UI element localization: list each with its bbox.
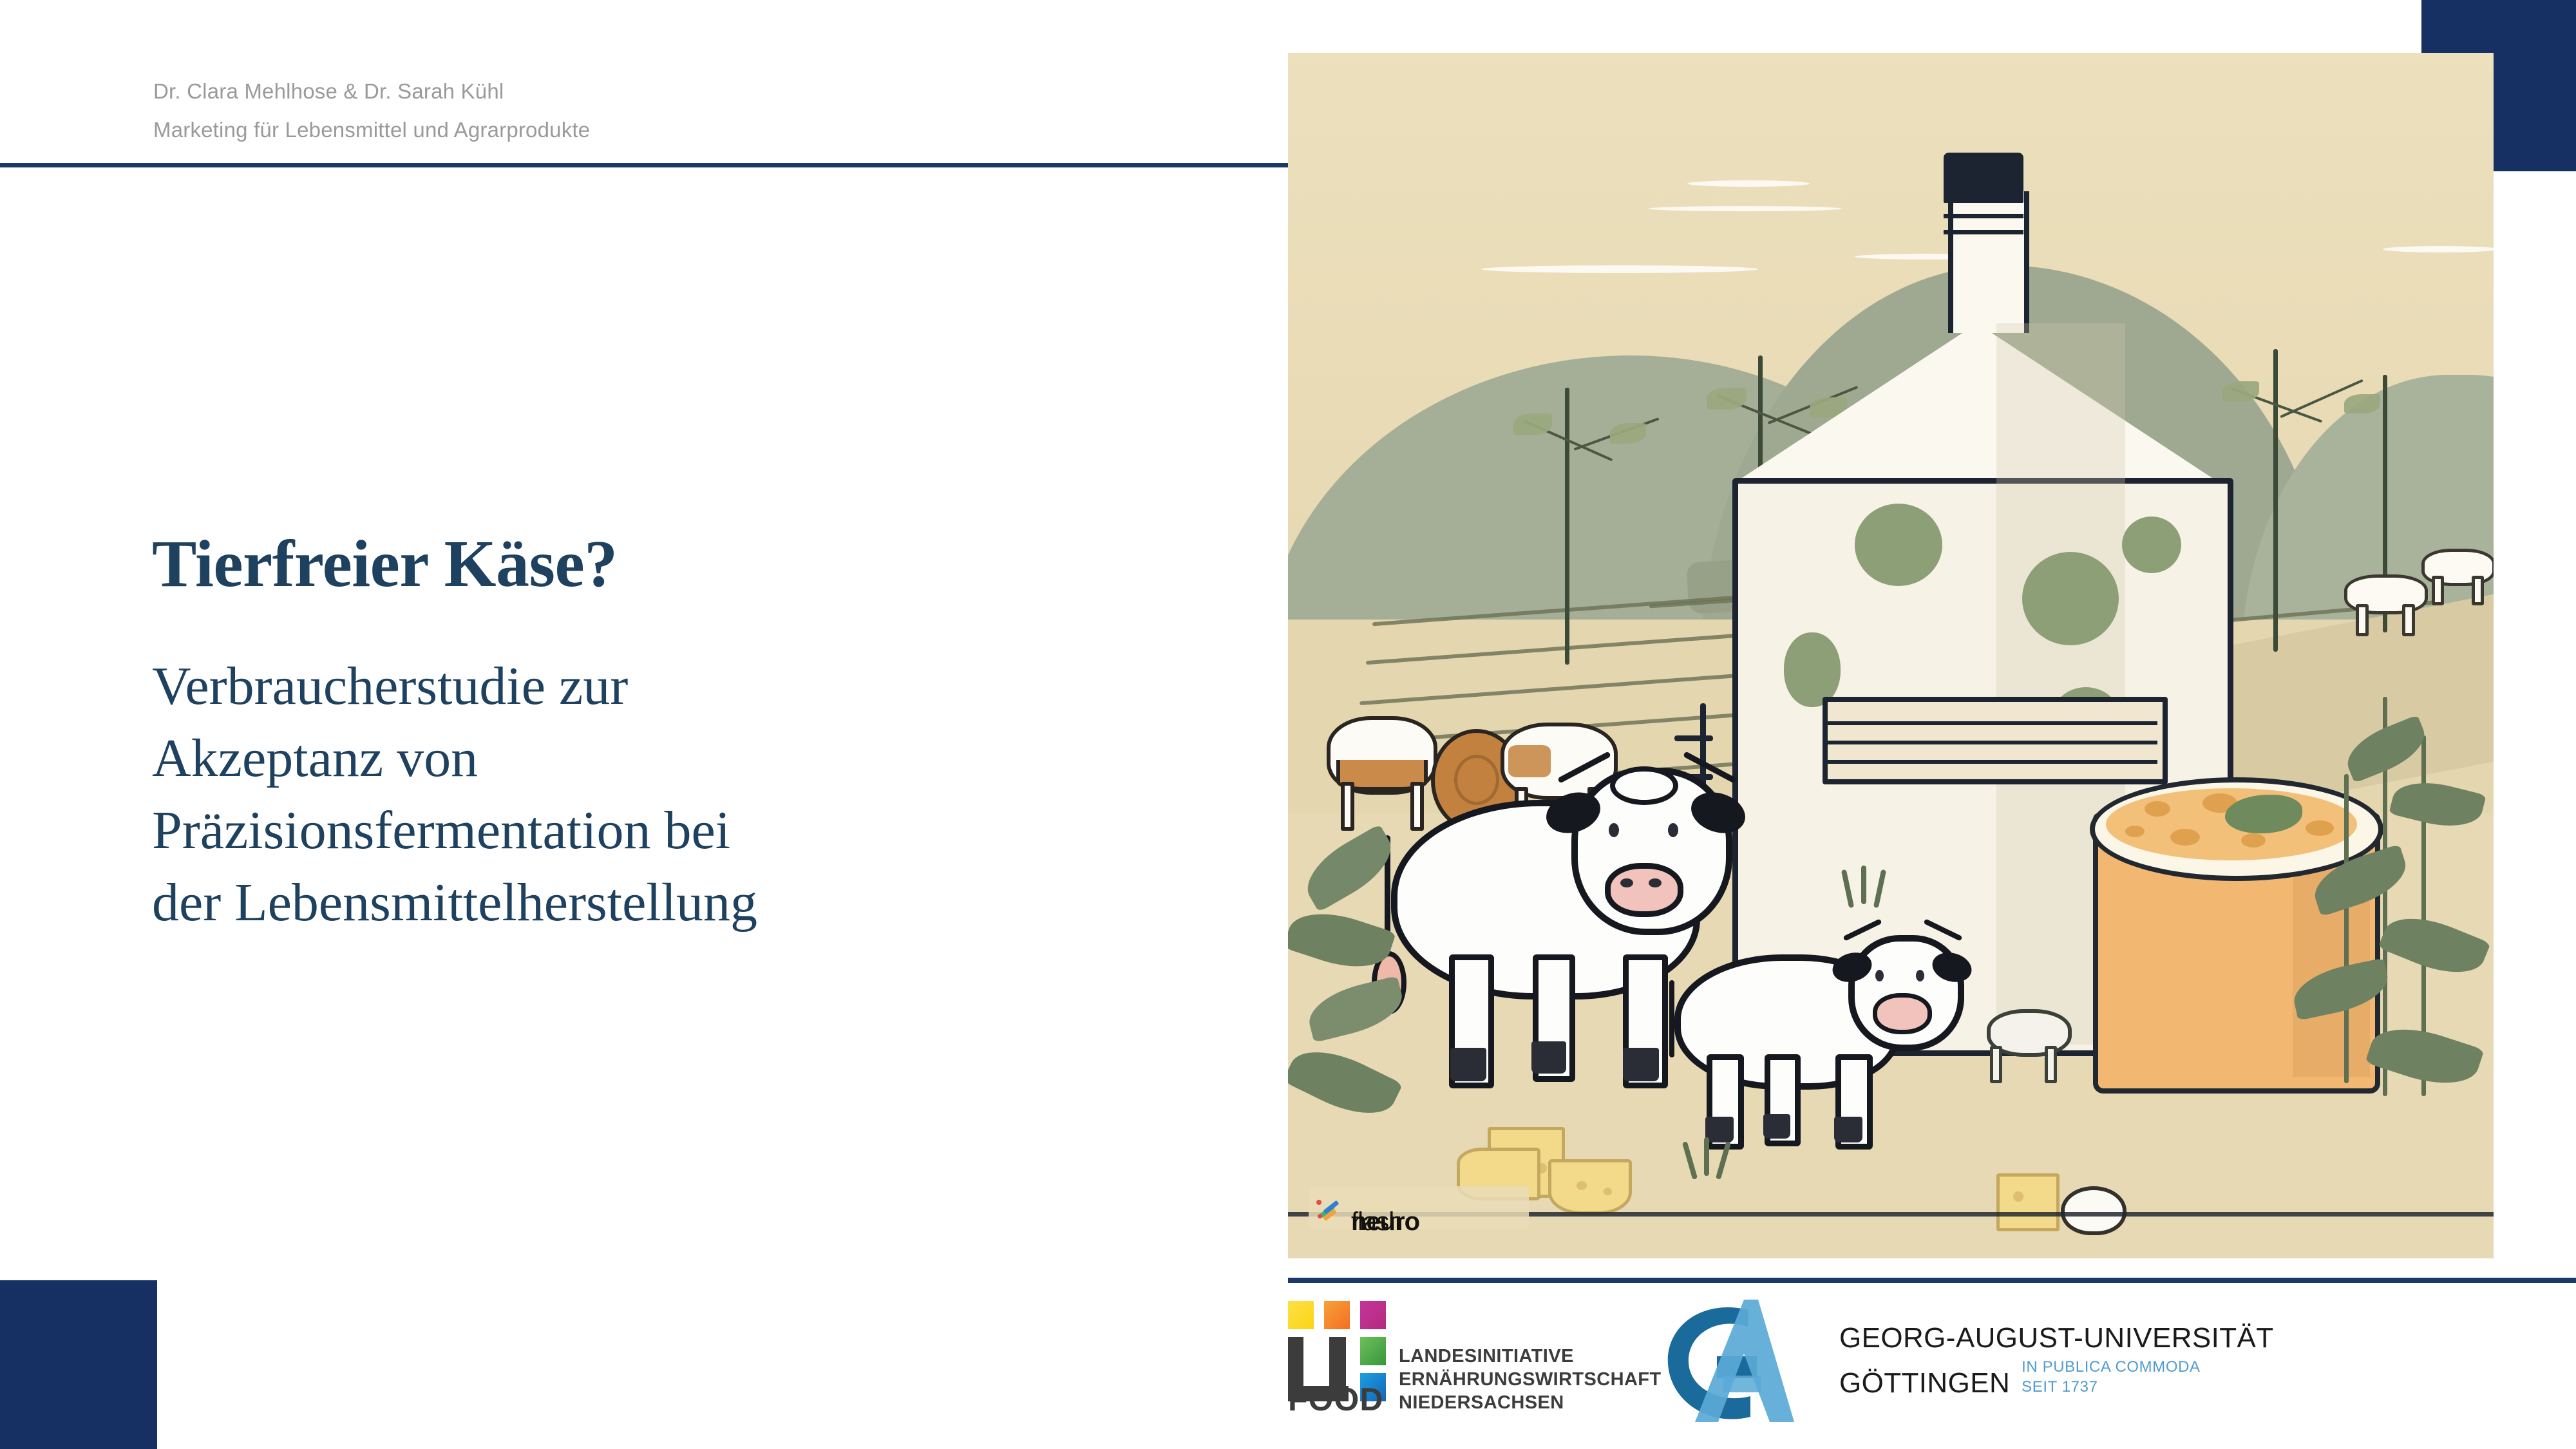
subtitle-line-4: der Lebensmittelherstellung	[152, 867, 1285, 939]
background-cow-leg	[1410, 782, 1424, 831]
small-goat-leg	[1990, 1046, 2002, 1083]
distant-cow-leg	[2432, 576, 2444, 605]
header-text-block: Dr. Clara Mehlhose & Dr. Sarah Kühl Mark…	[153, 72, 590, 149]
university-motto: IN PUBLICA COMMODA	[2022, 1357, 2201, 1377]
accent-block-bottom-left	[0, 1280, 157, 1449]
distant-cow-leg	[2356, 604, 2369, 636]
li-food-word: FOOD	[1288, 1383, 1383, 1416]
cheese-hole	[2013, 1191, 2023, 1202]
tank-louvre-slat	[1828, 721, 2157, 725]
tree-leaf	[2222, 381, 2259, 402]
tank-dot	[1855, 504, 1942, 586]
university-line-1: GEORG-AUGUST-UNIVERSITÄT	[1839, 1320, 2274, 1357]
swatch-yellow	[1288, 1301, 1314, 1329]
li-food-tagline: LANDESINITIATIVE ERNÄHRUNGSWIRTSCHAFT NI…	[1399, 1345, 1662, 1418]
cheese-vat-hole	[2306, 820, 2334, 836]
calf-tail	[1669, 980, 1674, 1057]
tank-ring	[1944, 230, 2023, 234]
calf-eye	[1916, 970, 1924, 981]
tank-ring	[1944, 214, 2023, 218]
cheese-hole	[1577, 1181, 1587, 1190]
li-food-line-2: ERNÄHRUNGSWIRTSCHAFT	[1399, 1368, 1662, 1391]
farm-illustration: neuroflash	[1288, 53, 2494, 1258]
cheese-vat-hole	[2145, 801, 2170, 817]
university-motto-block: IN PUBLICA COMMODA SEIT 1737	[2022, 1357, 2201, 1402]
tree-leaf	[1610, 423, 1646, 444]
cheese-vat-hole	[2125, 826, 2145, 837]
header-authors: Dr. Clara Mehlhose & Dr. Sarah Kühl	[153, 72, 590, 111]
header-department: Marketing für Lebensmittel und Agrarprod…	[153, 111, 590, 149]
cow-eye	[1668, 823, 1678, 837]
cloud	[1687, 180, 1810, 187]
subtitle-line-2: Akzeptanz von	[152, 723, 1285, 795]
background-cow-patch	[1508, 745, 1551, 777]
subtitle-line-3: Präzisionsfermentation bei	[152, 795, 1285, 867]
cow-hoof	[1531, 1041, 1566, 1074]
calf-snout	[1873, 993, 1932, 1034]
calf-eye	[1875, 970, 1884, 981]
li-food-mark: FOOD	[1288, 1301, 1386, 1418]
cheese-vat-hole	[2170, 829, 2200, 846]
university-line-2-row: GÖTTINGEN IN PUBLICA COMMODA SEIT 1737	[1839, 1357, 2274, 1402]
swatch-magenta	[1360, 1301, 1386, 1329]
cow-nostril	[1649, 878, 1662, 887]
hay-bale-ring	[1454, 755, 1499, 805]
swatch-orange	[1324, 1301, 1350, 1329]
li-food-logo: FOOD LANDESINITIATIVE ERNÄHRUNGSWIRTSCHA…	[1288, 1301, 1662, 1418]
small-goat-leg	[2045, 1046, 2057, 1083]
cow-hoof	[1450, 1048, 1486, 1081]
page-title: Tierfreier Käse?	[152, 528, 1285, 600]
calf-hoof	[1705, 1117, 1734, 1142]
calf-hoof	[1834, 1117, 1862, 1142]
tank-louvre-slat	[1828, 741, 2157, 744]
swatch-green	[1360, 1337, 1386, 1365]
calf-hoof	[1763, 1114, 1790, 1139]
grass-blade	[1861, 866, 1866, 904]
ga-monogram-icon	[1662, 1294, 1823, 1426]
plant-stem	[2344, 774, 2349, 1083]
mozzarella-ball	[2061, 1186, 2126, 1235]
university-line-2: GÖTTINGEN	[1839, 1365, 2010, 1402]
tank-cap	[1944, 153, 2023, 203]
subtitle-line-1: Verbraucherstudie zur	[152, 650, 1285, 723]
cheese-hole	[1604, 1188, 1612, 1195]
neuroflash-light: flash	[1351, 1207, 1403, 1236]
neuroflash-icon	[1316, 1195, 1345, 1220]
cow-eye	[1609, 823, 1619, 837]
tree-trunk	[2273, 349, 2278, 652]
cow-forelock	[1610, 766, 1678, 805]
cow-snout	[1605, 863, 1683, 917]
tank-roof-cone	[1732, 323, 2222, 484]
cloud	[2383, 246, 2494, 252]
background-cow-leg	[1341, 782, 1354, 831]
university-logo: GEORG-AUGUST-UNIVERSITÄT GÖTTINGEN IN PU…	[1662, 1294, 2274, 1426]
page-subtitle: Verbraucherstudie zur Akzeptanz von Präz…	[152, 650, 1285, 939]
cheese-vat-hole	[2241, 833, 2266, 848]
tank-dot	[2122, 516, 2181, 573]
cow-hoof	[1623, 1048, 1659, 1081]
li-food-line-1: LANDESINITIATIVE	[1399, 1345, 1662, 1368]
tree-trunk	[1565, 388, 1569, 665]
cheese-round	[1548, 1159, 1632, 1215]
university-wordmark: GEORG-AUGUST-UNIVERSITÄT GÖTTINGEN IN PU…	[1839, 1320, 2274, 1402]
logo-strip: FOOD LANDESINITIATIVE ERNÄHRUNGSWIRTSCHA…	[1288, 1294, 2576, 1439]
title-block: Tierfreier Käse? Verbraucherstudie zur A…	[152, 528, 1285, 939]
cloud	[1481, 265, 1758, 273]
neuroflash-watermark: neuroflash	[1309, 1186, 1529, 1229]
distant-cow-leg	[2402, 604, 2415, 636]
pipe-arm	[1674, 735, 1713, 741]
tank-neck	[1948, 191, 2029, 333]
tree-leaf	[2344, 394, 2380, 413]
divider-rule-bottom	[1288, 1278, 2576, 1283]
grass-blade	[1704, 1137, 1709, 1176]
li-food-line-3: NIEDERSACHSEN	[1399, 1391, 1662, 1414]
tank-dot	[1784, 632, 1841, 707]
tank-louvre-slat	[1828, 760, 2157, 764]
university-since: SEIT 1737	[2022, 1377, 2201, 1397]
tank-dot	[2022, 552, 2119, 645]
cow-nostril	[1620, 878, 1633, 887]
cloud	[1649, 206, 1842, 211]
distant-cow-leg	[2472, 576, 2484, 605]
cheese-block	[1996, 1173, 2060, 1231]
divider-rule-top	[0, 163, 1288, 167]
tree-leaf	[1513, 413, 1552, 435]
